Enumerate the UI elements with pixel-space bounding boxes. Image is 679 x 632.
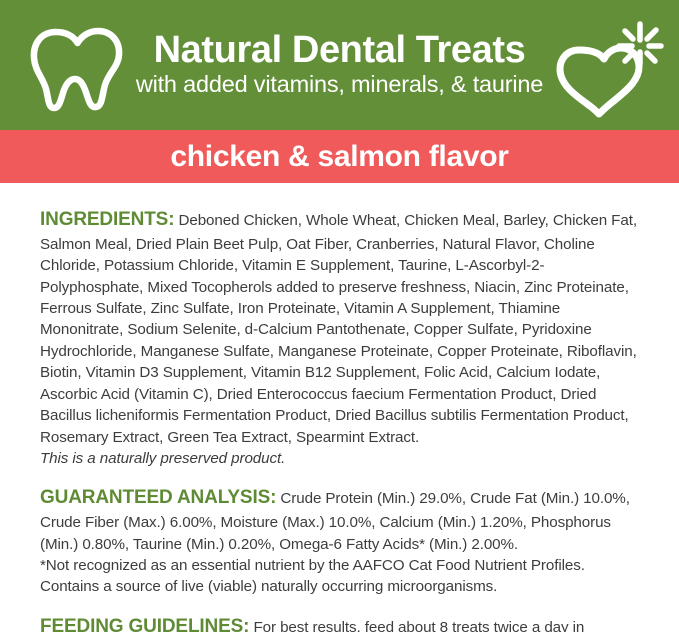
guaranteed-analysis-section: GUARANTEED ANALYSIS: Crude Protein (Min.…: [40, 485, 641, 597]
ingredients-heading: INGREDIENTS:: [40, 209, 174, 230]
microorganism-note: Contains a source of live (viable) natur…: [40, 578, 497, 595]
guaranteed-analysis-heading: GUARANTEED ANALYSIS:: [40, 487, 276, 508]
label-body: INGREDIENTS: Deboned Chicken, Whole Whea…: [0, 183, 679, 632]
guaranteed-analysis-paragraph: GUARANTEED ANALYSIS: Crude Protein (Min.…: [40, 485, 641, 597]
feeding-guidelines-section: FEEDING GUIDELINES: For best results, fe…: [40, 614, 641, 632]
feeding-guidelines-paragraph: FEEDING GUIDELINES: For best results, fe…: [40, 614, 641, 632]
header-text-group: Natural Dental Treats with added vitamin…: [136, 30, 543, 101]
ingredients-paragraph: INGREDIENTS: Deboned Chicken, Whole Whea…: [40, 207, 641, 469]
ingredients-section: INGREDIENTS: Deboned Chicken, Whole Whea…: [40, 207, 641, 469]
tooth-icon: [26, 22, 130, 114]
ingredients-preservation-note: This is a naturally preserved product.: [40, 450, 285, 467]
ingredients-text: Deboned Chicken, Whole Wheat, Chicken Me…: [40, 212, 637, 446]
aafco-footnote: *Not recognized as an essential nutrient…: [40, 557, 585, 574]
product-label: Natural Dental Treats with added vitamin…: [0, 0, 679, 632]
page-subtitle: with added vitamins, minerals, & taurine: [136, 70, 543, 99]
feeding-guidelines-heading: FEEDING GUIDELINES:: [40, 616, 249, 632]
heart-sparkle-icon: [549, 12, 665, 120]
page-title: Natural Dental Treats: [136, 30, 543, 70]
flavor-label: chicken & salmon flavor: [170, 142, 508, 172]
header-band: Natural Dental Treats with added vitamin…: [0, 0, 679, 130]
flavor-band: chicken & salmon flavor: [0, 130, 679, 183]
